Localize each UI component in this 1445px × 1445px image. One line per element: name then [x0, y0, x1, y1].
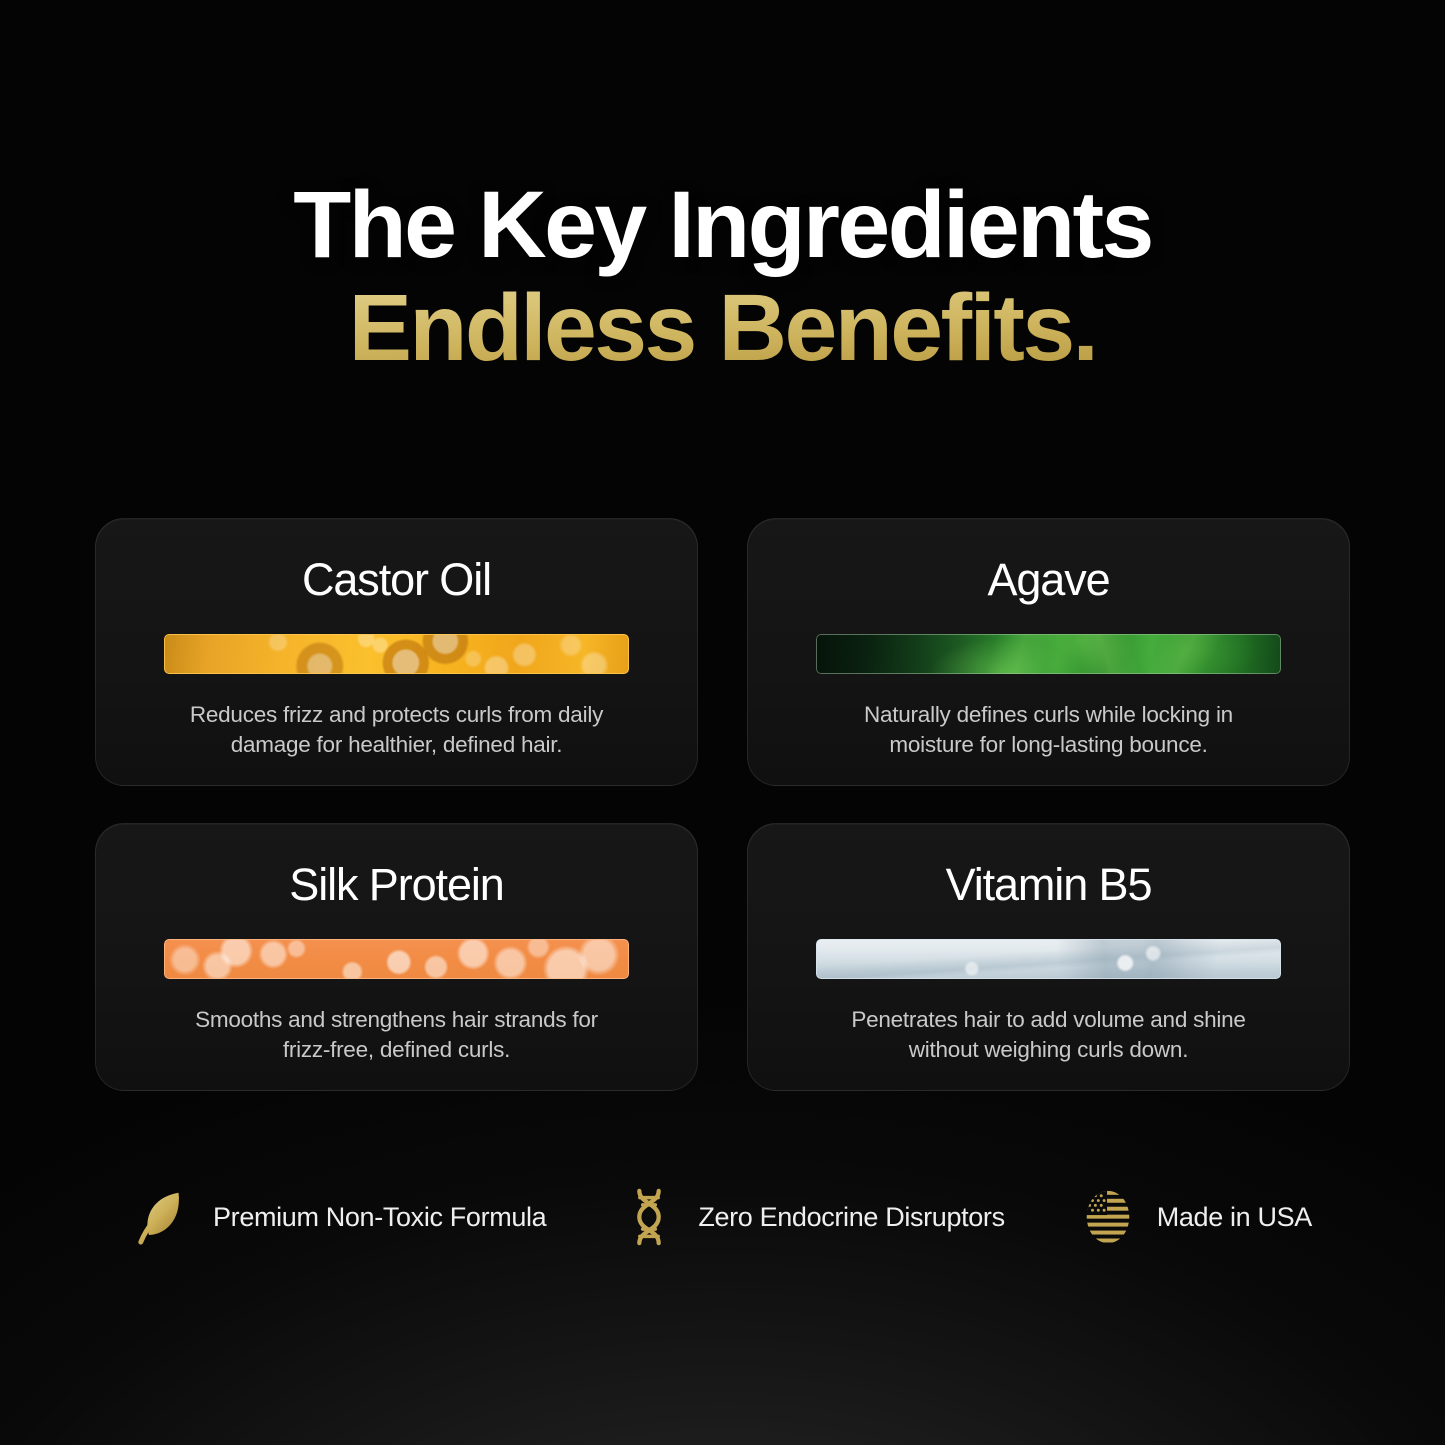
castor-oil-strip: [164, 634, 629, 674]
vitamin-b5-image: [816, 939, 1281, 979]
headline-line-1: The Key Ingredients: [0, 176, 1445, 275]
ingredient-card-castor-oil[interactable]: Castor Oil Reduces frizz and protects cu…: [95, 518, 698, 786]
card-title: Silk Protein: [289, 860, 503, 910]
silk-protein-image: [164, 939, 629, 979]
badge-label: Made in USA: [1157, 1202, 1312, 1233]
card-description: Reduces frizz and protects curls from da…: [182, 700, 612, 760]
ingredient-card-grid: Castor Oil Reduces frizz and protects cu…: [95, 518, 1350, 1091]
silk-protein-strip: [164, 939, 629, 979]
card-description: Smooths and strengthens hair strands for…: [182, 1005, 612, 1065]
leaf-icon: [133, 1186, 195, 1248]
ingredient-card-agave[interactable]: Agave Naturally defines curls while lock…: [747, 518, 1350, 786]
castor-oil-image: [164, 634, 629, 674]
page-title: The Key Ingredients Endless Benefits.: [0, 176, 1445, 378]
ingredient-card-silk-protein[interactable]: Silk Protein Smooths and strengthens hai…: [95, 823, 698, 1091]
card-title: Agave: [987, 555, 1109, 605]
card-title: Castor Oil: [302, 555, 491, 605]
badge-premium-non-toxic-formula: Premium Non-Toxic Formula: [133, 1186, 546, 1248]
dna-icon: [618, 1186, 680, 1248]
badge-zero-endocrine-disruptors: Zero Endocrine Disruptors: [618, 1186, 1004, 1248]
usa-flag-icon: [1077, 1186, 1139, 1248]
headline-line-2: Endless Benefits.: [0, 279, 1445, 378]
card-title: Vitamin B5: [946, 860, 1152, 910]
trust-badge-row: Premium Non-Toxic Formula Zero Endocrine…: [0, 1186, 1445, 1248]
badge-label: Premium Non-Toxic Formula: [213, 1202, 546, 1233]
badge-label: Zero Endocrine Disruptors: [698, 1202, 1004, 1233]
agave-strip: [816, 634, 1281, 674]
agave-image: [816, 634, 1281, 674]
badge-made-in-usa: Made in USA: [1077, 1186, 1312, 1248]
card-description: Naturally defines curls while locking in…: [834, 700, 1264, 760]
ingredient-card-vitamin-b5[interactable]: Vitamin B5 Penetrates hair to add volume…: [747, 823, 1350, 1091]
ingredients-infographic: The Key Ingredients Endless Benefits. Ca…: [0, 0, 1445, 1445]
vitamin-b5-strip: [816, 939, 1281, 979]
card-description: Penetrates hair to add volume and shine …: [834, 1005, 1264, 1065]
